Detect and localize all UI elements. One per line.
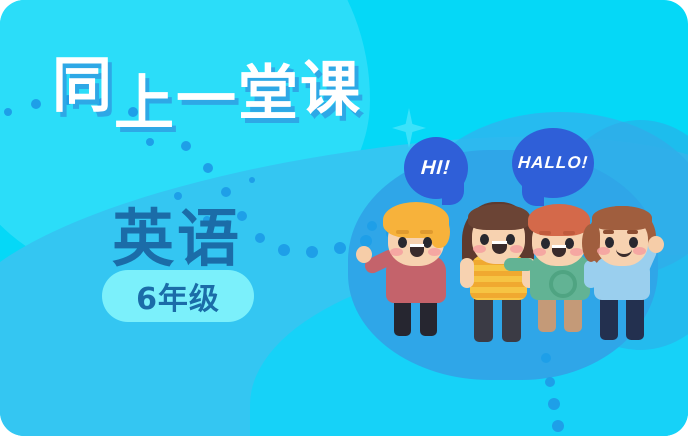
cheek xyxy=(428,248,441,256)
speech-bubble-hi: HI! xyxy=(404,137,468,199)
speech-bubble-hallo: HALLO! xyxy=(512,128,594,198)
dot-path-tail-dot xyxy=(545,377,555,387)
child-girl-blue xyxy=(580,198,672,348)
hand xyxy=(356,246,372,263)
dot-path-tail-dot xyxy=(541,353,551,363)
cheek xyxy=(390,248,403,256)
eyebrow xyxy=(396,230,409,234)
eye xyxy=(565,238,574,249)
eyebrow xyxy=(603,230,614,234)
eyebrow xyxy=(420,230,433,234)
dot-path-main-dot xyxy=(181,141,191,151)
speech-bubble-hi-text: HI! xyxy=(420,157,451,180)
arm xyxy=(460,258,474,288)
title-char-2: 一 xyxy=(176,51,238,138)
dot-path-main-dot xyxy=(255,233,265,243)
dot-path-main-dot xyxy=(4,108,12,116)
cheek xyxy=(533,248,546,256)
title-char-0: 同 xyxy=(52,37,114,124)
hair-ponytail xyxy=(582,224,600,262)
dot-path-tail-dot xyxy=(552,420,564,432)
cheek xyxy=(597,247,610,255)
grade-badge: 6年级 xyxy=(102,270,254,322)
page-title: 同上一堂课 xyxy=(52,47,362,134)
dot-path-main-dot xyxy=(306,246,318,258)
tooth xyxy=(410,244,424,247)
hair-fringe xyxy=(592,206,652,230)
title-char-1: 上 xyxy=(114,55,176,142)
dot-path-main-dot xyxy=(278,244,290,256)
arm-left xyxy=(504,258,534,271)
tooth xyxy=(552,245,566,248)
eye xyxy=(480,234,489,245)
eye xyxy=(398,237,407,248)
dot-scatter-dot xyxy=(249,177,255,183)
dot-path-main-dot xyxy=(31,99,41,109)
leg xyxy=(600,294,618,340)
eyebrow xyxy=(627,230,638,234)
eye xyxy=(423,237,432,248)
speech-bubble-hallo-text: HALLO! xyxy=(517,153,589,173)
eyebrow xyxy=(539,231,551,235)
shirt-logo-icon xyxy=(549,270,577,298)
arm xyxy=(584,260,598,288)
cheek xyxy=(473,245,486,253)
eyebrow xyxy=(563,231,575,235)
tooth xyxy=(492,241,507,244)
hair-side xyxy=(430,216,450,248)
poster-card: 同上一堂课 英语 6年级 HI! HALLO! xyxy=(0,0,688,436)
cheek xyxy=(633,247,646,255)
title-char-3: 堂 xyxy=(238,45,300,132)
eye xyxy=(506,234,515,245)
eye xyxy=(605,237,614,248)
dot-path-main-dot xyxy=(334,242,346,254)
subject-title: 英语 xyxy=(112,188,242,278)
eye xyxy=(541,238,550,249)
title-char-4: 课 xyxy=(300,41,362,128)
dot-path-main-dot xyxy=(203,163,213,173)
grade-badge-label: 6年级 xyxy=(136,274,220,318)
dot-path-tail-dot xyxy=(548,398,560,410)
leg xyxy=(626,294,644,340)
hand xyxy=(648,236,664,253)
